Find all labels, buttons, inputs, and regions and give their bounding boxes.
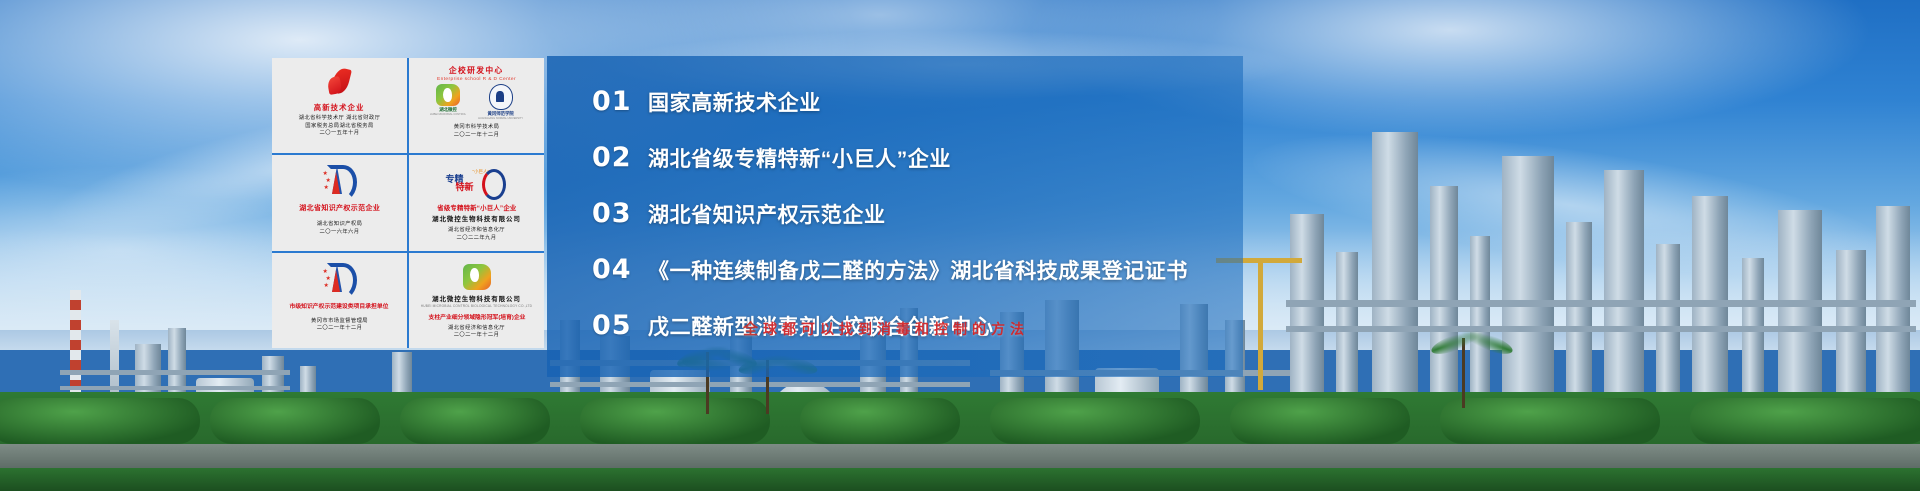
issuer-line: 黄冈市科学技术局 xyxy=(454,124,500,132)
certificate-enterprise-school-rd-center[interactable]: 企校研发中心 Enterprise school R & D Center 湖北… xyxy=(409,58,544,153)
issuer-date: 二〇一五年十月 xyxy=(299,130,381,138)
duck-logo-icon xyxy=(436,84,460,106)
issuer-date: 二〇一六年六月 xyxy=(317,229,363,237)
certificate-pillar-industry-hidden-champion[interactable]: 湖北微控生物科技有限公司 HUBEI MICROBIAL CONTROL BIO… xyxy=(409,253,544,348)
issuer-line: 湖北省知识产权局 xyxy=(317,221,363,229)
achievement-number: 03 xyxy=(592,198,648,229)
certificate-municipal-ip-demonstration-project[interactable]: ★ ★ ★ 市级知识产权示范建设类项目承担单位 黄冈市市场监督管理局 二〇二一年… xyxy=(272,253,407,348)
certificate-issuer: 湖北省经济和信息化厅 二〇二一年十二月 xyxy=(448,325,505,340)
achievement-item-04[interactable]: 04 《一种连续制备戊二醛的方法》湖北省科技成果登记证书 xyxy=(592,246,1232,293)
slogan-lead: 全 xyxy=(743,321,763,338)
logo-right-sub: HUANGGANG NORMAL UNIVERSITY xyxy=(478,117,523,120)
certificate-title: 企校研发中心 xyxy=(449,65,504,76)
issuer-line: 湖北省经济和信息化厅 xyxy=(448,227,505,235)
flame-emblem xyxy=(327,65,353,99)
certificate-company-en: HUBEI MICROBIAL CONTROL BIOLOGICAL TECHN… xyxy=(421,304,532,308)
achievement-text: 《一种连续制备戊二醛的方法》湖北省科技成果登记证书 xyxy=(648,255,1188,285)
achievement-item-01[interactable]: 01 国家高新技术企业 xyxy=(592,78,1232,125)
zhuanjing-texin-emblem: 专精“小巨人”特新 xyxy=(446,166,508,198)
certificate-wall: 高新技术企业 湖北省科学技术厅 湖北省财政厅 国家税务总局湖北省税务局 二〇一五… xyxy=(272,58,544,348)
issuer-date: 二〇二一年十二月 xyxy=(454,132,500,140)
achievement-number: 01 xyxy=(592,86,648,117)
achievement-item-03[interactable]: 03 湖北省知识产权示范企业 xyxy=(592,190,1232,237)
achievement-text: 湖北省级专精特新“小巨人”企业 xyxy=(648,143,951,173)
certificate-issuer: 黄冈市科学技术局 二〇二一年十二月 xyxy=(454,124,500,139)
ip-sail-emblem: ★ ★ ★ xyxy=(323,260,357,296)
university-shield-icon xyxy=(489,84,513,110)
ip-sail-emblem: ★ ★ ★ xyxy=(323,162,357,198)
slogan-text: 全球都可以找到消毒和控制的方法 xyxy=(536,318,1236,339)
certificate-issuer: 湖北省经济和信息化厅 二〇二二年九月 xyxy=(448,227,505,242)
slogan-body: 球都可以找到消毒和控制的方法 xyxy=(763,321,1029,337)
achievements-list: 01 国家高新技术企业 02 湖北省级专精特新“小巨人”企业 03 湖北省知识产… xyxy=(592,78,1232,358)
certificate-title: 支柱产业细分领域隐形冠军(培育)企业 xyxy=(428,312,525,321)
certificate-title: 湖北省知识产权示范企业 xyxy=(299,203,380,213)
duck-logo-emblem xyxy=(463,263,491,291)
certificate-high-tech-enterprise[interactable]: 高新技术企业 湖北省科学技术厅 湖北省财政厅 国家税务总局湖北省税务局 二〇一五… xyxy=(272,58,407,153)
dual-logo-emblem: 湖北微控 HUBEI MICROBIAL CONTROL 黄冈师范学院 HUAN… xyxy=(430,84,523,120)
logo-left-sub: HUBEI MICROBIAL CONTROL xyxy=(430,113,466,116)
certificate-issuer: 黄冈市市场监督管理局 二〇二一年十二月 xyxy=(311,318,368,333)
certificate-title: 省级专精特新“小巨人”企业 xyxy=(437,202,516,212)
issuer-date: 二〇二二年九月 xyxy=(448,235,505,243)
achievement-number: 02 xyxy=(592,142,648,173)
issuer-date: 二〇二一年十二月 xyxy=(448,332,505,340)
banner-stage: 高新技术企业 湖北省科学技术厅 湖北省财政厅 国家税务总局湖北省税务局 二〇一五… xyxy=(0,0,1920,491)
issuer-date: 二〇二一年十二月 xyxy=(311,325,368,333)
achievement-item-02[interactable]: 02 湖北省级专精特新“小巨人”企业 xyxy=(592,134,1232,181)
front-grass xyxy=(0,468,1920,491)
issuer-line: 湖北省科学技术厅 湖北省财政厅 xyxy=(299,115,381,123)
achievement-text: 湖北省知识产权示范企业 xyxy=(648,199,886,229)
certificate-title-en: Enterprise school R & D Center xyxy=(437,77,516,82)
certificate-company: 湖北微控生物科技有限公司 xyxy=(432,294,521,303)
certificate-issuer: 湖北省科学技术厅 湖北省财政厅 国家税务总局湖北省税务局 二〇一五年十月 xyxy=(299,115,381,138)
certificate-specialized-little-giant[interactable]: 专精“小巨人”特新 省级专精特新“小巨人”企业 湖北微控生物科技有限公司 湖北省… xyxy=(409,155,544,250)
achievement-text: 国家高新技术企业 xyxy=(648,87,821,117)
certificate-issuer: 湖北省知识产权局 二〇一六年六月 xyxy=(317,221,363,236)
achievement-number: 04 xyxy=(592,254,648,285)
certificate-title: 市级知识产权示范建设类项目承担单位 xyxy=(290,301,389,310)
certificate-company: 湖北微控生物科技有限公司 xyxy=(432,214,521,223)
certificate-hubei-ip-demonstration-enterprise[interactable]: ★ ★ ★ 湖北省知识产权示范企业 湖北省知识产权局 二〇一六年六月 xyxy=(272,155,407,250)
plant-road xyxy=(0,444,1920,470)
certificate-title: 高新技术企业 xyxy=(314,102,365,113)
